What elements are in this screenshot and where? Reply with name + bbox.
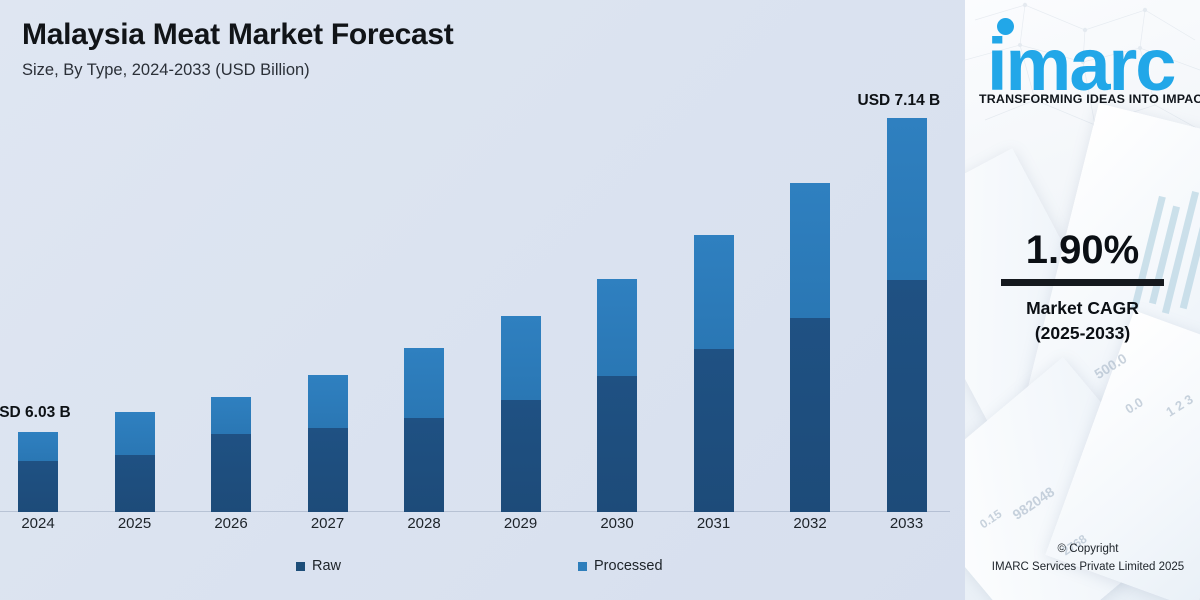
x-axis: 2024202520262027202820292030203120322033 bbox=[0, 515, 965, 545]
x-axis-label-2029: 2029 bbox=[504, 515, 537, 532]
x-axis-label-2024: 2024 bbox=[21, 515, 54, 532]
copyright-notice: © Copyright IMARC Services Private Limit… bbox=[965, 541, 1200, 577]
cagr-value: 1.90% bbox=[965, 228, 1200, 272]
legend-item-raw[interactable]: Raw bbox=[296, 558, 341, 574]
legend-item-processed[interactable]: Processed bbox=[578, 558, 663, 574]
bar-segment-raw bbox=[18, 461, 58, 512]
x-axis-label-2028: 2028 bbox=[407, 515, 440, 532]
bar-segment-raw bbox=[308, 428, 348, 512]
bar-2030 bbox=[597, 279, 637, 512]
x-axis-label-2030: 2030 bbox=[600, 515, 633, 532]
x-axis-label-2032: 2032 bbox=[793, 515, 826, 532]
bar-2028 bbox=[404, 348, 444, 512]
bar-segment-raw bbox=[211, 434, 251, 512]
legend-label: Raw bbox=[312, 558, 341, 574]
x-axis-label-2025: 2025 bbox=[118, 515, 151, 532]
bar-segment-raw bbox=[501, 400, 541, 512]
plot-area: USD 6.03 BUSD 7.14 B bbox=[0, 100, 965, 512]
bar-segment-raw bbox=[694, 349, 734, 512]
x-axis-label-2033: 2033 bbox=[890, 515, 923, 532]
cagr-label: Market CAGR bbox=[965, 296, 1200, 321]
bar-2031 bbox=[694, 235, 734, 512]
legend-swatch-icon bbox=[578, 562, 587, 571]
copyright-line-2: IMARC Services Private Limited 2025 bbox=[965, 559, 1200, 577]
bar-2026 bbox=[211, 397, 251, 512]
bar-segment-raw bbox=[790, 318, 830, 512]
deco-number-0: 500.0 bbox=[1091, 350, 1129, 382]
deco-number-1: 0.0 bbox=[1122, 394, 1145, 416]
bar-segment-processed bbox=[887, 118, 927, 280]
bar-2032 bbox=[790, 183, 830, 512]
bar-segment-processed bbox=[597, 279, 637, 376]
deco-number-4: 0.15 bbox=[977, 507, 1004, 532]
chart-screenshot: Malaysia Meat Market Forecast Size, By T… bbox=[0, 0, 1200, 600]
bar-segment-processed bbox=[115, 412, 155, 455]
bar-2033 bbox=[887, 118, 927, 512]
bar-segment-raw bbox=[404, 418, 444, 512]
bar-2027 bbox=[308, 375, 348, 512]
bar-segment-processed bbox=[501, 316, 541, 400]
bar-segment-processed bbox=[308, 375, 348, 428]
deco-number-2: 1 2 3 bbox=[1163, 391, 1195, 419]
bar-2024 bbox=[18, 432, 58, 512]
bar-2029 bbox=[501, 316, 541, 512]
chart-panel: Malaysia Meat Market Forecast Size, By T… bbox=[0, 0, 965, 600]
legend-swatch-icon bbox=[296, 562, 305, 571]
logo-tagline: TRANSFORMING IDEAS INTO IMPACT bbox=[979, 92, 1200, 106]
brand-panel: 500.0 0.0 1 2 3 982048 0.15 2768 imarc T… bbox=[965, 0, 1200, 600]
legend-label: Processed bbox=[594, 558, 663, 574]
deco-number-3: 982048 bbox=[1010, 483, 1058, 522]
x-axis-label-2027: 2027 bbox=[311, 515, 344, 532]
last-value-label: USD 7.14 B bbox=[858, 92, 941, 110]
chart-subtitle: Size, By Type, 2024-2033 (USD Billion) bbox=[22, 61, 310, 80]
bar-segment-raw bbox=[597, 376, 637, 512]
bar-segment-processed bbox=[694, 235, 734, 349]
cagr-period: (2025-2033) bbox=[965, 321, 1200, 346]
bar-segment-processed bbox=[18, 432, 58, 461]
bar-segment-processed bbox=[404, 348, 444, 418]
bar-segment-processed bbox=[211, 397, 251, 434]
page-title: Malaysia Meat Market Forecast bbox=[22, 18, 454, 52]
cagr-block: 1.90% Market CAGR (2025-2033) bbox=[965, 228, 1200, 347]
bar-segment-processed bbox=[790, 183, 830, 318]
copyright-line-1: © Copyright bbox=[965, 541, 1200, 559]
x-axis-label-2026: 2026 bbox=[214, 515, 247, 532]
cagr-divider bbox=[1001, 279, 1164, 286]
x-axis-label-2031: 2031 bbox=[697, 515, 730, 532]
bar-segment-raw bbox=[115, 455, 155, 512]
bar-2025 bbox=[115, 412, 155, 512]
bar-segment-raw bbox=[887, 280, 927, 512]
logo-wordmark: imarc bbox=[987, 32, 1174, 99]
chart-legend: RawProcessed bbox=[0, 558, 965, 588]
first-value-label: USD 6.03 B bbox=[0, 404, 71, 422]
